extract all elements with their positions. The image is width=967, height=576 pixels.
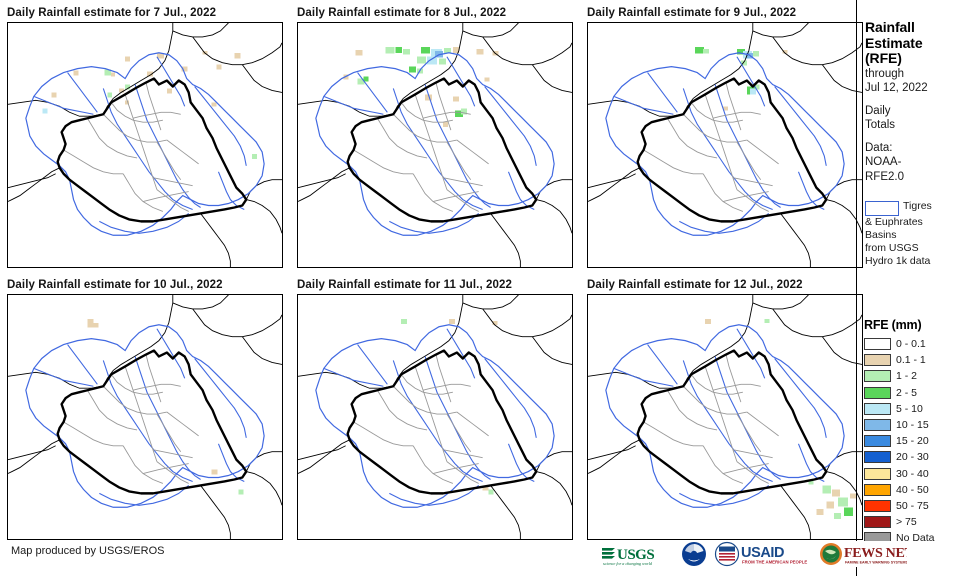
legend-swatch <box>864 370 891 382</box>
rail-through: through <box>865 67 967 82</box>
legend-swatch <box>864 435 891 447</box>
map-canvas <box>297 294 573 540</box>
legend-label: 10 - 15 <box>896 419 929 431</box>
svg-text:FROM THE AMERICAN PEOPLE: FROM THE AMERICAN PEOPLE <box>742 560 807 565</box>
rail-title-line1: Rainfall <box>865 20 967 36</box>
legend-label: 30 - 40 <box>896 468 929 480</box>
legend-label: 2 - 5 <box>896 387 917 399</box>
legend-row: 30 - 40 <box>864 466 964 482</box>
legend-row: > 75 <box>864 514 964 530</box>
basin-line2: & Euphrates <box>865 216 967 229</box>
map-panel-title: Daily Rainfall estimate for 8 Jul., 2022 <box>297 6 506 22</box>
legend-row: 15 - 20 <box>864 433 964 449</box>
rail-title-line3: (RFE) <box>865 51 967 67</box>
svg-text:FEWS NET: FEWS NET <box>844 546 907 561</box>
map-panel-title: Daily Rainfall estimate for 12 Jul., 202… <box>587 278 803 294</box>
legend-row: 40 - 50 <box>864 482 964 498</box>
legend-swatch <box>864 484 891 496</box>
legend-label: 40 - 50 <box>896 484 929 496</box>
map-panel-title: Daily Rainfall estimate for 11 Jul., 202… <box>297 278 512 294</box>
legend-label: 15 - 20 <box>896 435 929 447</box>
basin-label: Tigres <box>903 200 932 213</box>
rail-title-line2: Estimate <box>865 36 967 52</box>
legend-label: 0.1 - 1 <box>896 354 926 366</box>
legend-label: 1 - 2 <box>896 370 917 382</box>
legend-label: 0 - 0.1 <box>896 338 926 350</box>
map-panel-12-jul: Daily Rainfall estimate for 12 Jul., 202… <box>587 278 803 294</box>
usaid-logo: USAID FROM THE AMERICAN PEOPLE <box>714 541 812 567</box>
rail-data-label: Data: <box>865 141 967 156</box>
legend-row: 2 - 5 <box>864 385 964 401</box>
basin-line5: Hydro 1k data <box>865 255 967 268</box>
rail-data-source-line2: RFE2.0 <box>865 170 967 185</box>
map-panel-title: Daily Rainfall estimate for 9 Jul., 2022 <box>587 6 796 22</box>
legend-swatch <box>864 500 891 512</box>
map-credit: Map produced by USGS/EROS <box>11 545 164 557</box>
map-panel-9-jul: Daily Rainfall estimate for 9 Jul., 2022 <box>587 6 796 22</box>
map-panel-10-jul: Daily Rainfall estimate for 10 Jul., 202… <box>7 278 223 294</box>
rail-totals-line1: Daily <box>865 104 967 119</box>
legend-row: 20 - 30 <box>864 449 964 465</box>
legend-swatch <box>864 338 891 350</box>
legend-row: 1 - 2 <box>864 368 964 384</box>
basin-line4: from USGS <box>865 242 967 255</box>
map-panel-title: Daily Rainfall estimate for 10 Jul., 202… <box>7 278 223 294</box>
map-canvas <box>587 22 863 268</box>
noaa-logo <box>681 541 707 567</box>
rfe-legend: RFE (mm) 0 - 0.10.1 - 11 - 22 - 55 - 101… <box>864 318 964 546</box>
legend-label: 5 - 10 <box>896 403 923 415</box>
legend-swatch <box>864 387 891 399</box>
map-canvas <box>7 22 283 268</box>
legend-swatch <box>864 468 891 480</box>
svg-text:science for a changing world: science for a changing world <box>603 561 653 566</box>
basin-legend: Tigres <box>865 200 967 216</box>
map-canvas <box>587 294 863 540</box>
basin-line3: Basins <box>865 229 967 242</box>
legend-label: 20 - 30 <box>896 451 929 463</box>
basin-swatch <box>865 201 899 216</box>
map-panel-7-jul: Daily Rainfall estimate for 7 Jul., 2022 <box>7 6 216 22</box>
legend-row: 5 - 10 <box>864 401 964 417</box>
map-panel-11-jul: Daily Rainfall estimate for 11 Jul., 202… <box>297 278 512 294</box>
legend-swatch <box>864 403 891 415</box>
legend-label: > 75 <box>896 516 917 528</box>
rail-totals-line2: Totals <box>865 118 967 133</box>
legend-swatch <box>864 354 891 366</box>
map-panel-8-jul: Daily Rainfall estimate for 8 Jul., 2022 <box>297 6 506 22</box>
agency-logos: USGS science for a changing world USAID … <box>600 541 907 567</box>
map-canvas <box>297 22 573 268</box>
legend-swatch <box>864 451 891 463</box>
legend-row: 50 - 75 <box>864 498 964 514</box>
legend-label: 50 - 75 <box>896 500 929 512</box>
map-canvas <box>7 294 283 540</box>
legend-row: 10 - 15 <box>864 417 964 433</box>
legend-row: 0.1 - 1 <box>864 352 964 368</box>
svg-text:FAMINE EARLY WARNING SYSTEMS N: FAMINE EARLY WARNING SYSTEMS NETWORK <box>845 561 907 565</box>
rfe-legend-title: RFE (mm) <box>864 318 964 332</box>
legend-swatch <box>864 516 891 528</box>
rail-data-source-line1: NOAA- <box>865 155 967 170</box>
rail-through-date: Jul 12, 2022 <box>865 81 967 96</box>
usgs-logo: USGS science for a changing world <box>600 541 674 567</box>
map-panel-title: Daily Rainfall estimate for 7 Jul., 2022 <box>7 6 216 22</box>
fews-net-logo: FEWS NET FAMINE EARLY WARNING SYSTEMS NE… <box>819 541 907 567</box>
legend-row: 0 - 0.1 <box>864 336 964 352</box>
legend-swatch <box>864 419 891 431</box>
